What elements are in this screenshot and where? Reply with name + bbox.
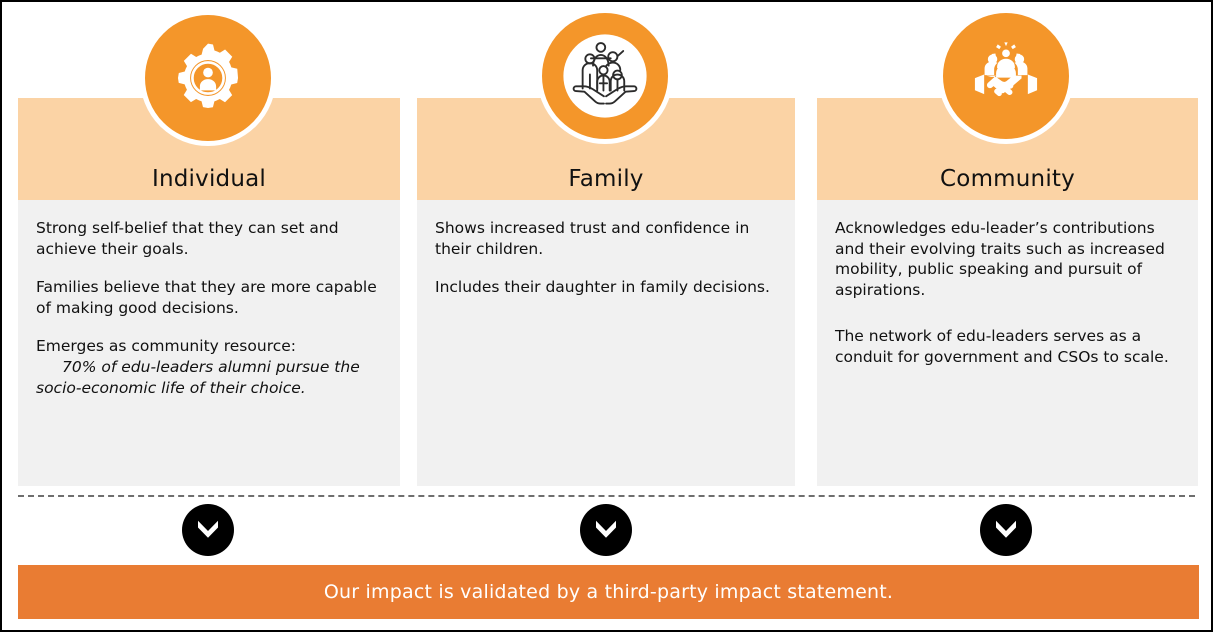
impact-banner: Our impact is validated by a third-party… [18,565,1199,619]
column-body-family: Shows increased trust and confidence in … [417,200,795,486]
marker-community [980,504,1032,556]
column-title-community: Community [817,166,1198,192]
paragraph-emphasis: 70% of edu-leaders alumni pursue the soc… [36,357,384,398]
impact-banner-text: Our impact is validated by a third-party… [324,581,893,603]
dashed-divider [18,495,1195,497]
column-title-individual: Individual [18,166,400,192]
column-body-community: Acknowledges edu-leader’s contributions … [817,200,1198,486]
gear-person-icon [169,39,247,117]
paragraph: Families believe that they are more capa… [36,277,384,318]
chevron-down-icon [591,513,621,547]
paragraph: Strong self-belief that they can set and… [36,218,384,259]
marker-family [580,504,632,556]
badge-individual [140,10,276,146]
paragraph: Acknowledges edu-leader’s contributions … [835,218,1182,300]
impact-slide: Individual Strong self-belief that they … [0,0,1213,632]
handshake-community-icon [964,34,1048,118]
column-body-individual: Strong self-belief that they can set and… [18,200,400,486]
column-individual: Individual Strong self-belief that they … [18,98,400,486]
paragraph: Shows increased trust and confidence in … [435,218,779,259]
badge-family [537,8,673,144]
marker-individual [182,504,234,556]
column-community: Community Acknowledges edu-leader’s cont… [817,98,1198,486]
paragraph: Includes their daughter in family decisi… [435,277,779,298]
chevron-down-icon [991,513,1021,547]
paragraph: Emerges as community resource: 70% of ed… [36,336,384,398]
column-title-family: Family [417,166,795,192]
family-in-hands-icon [553,24,657,128]
column-family: Family Shows increased trust and confide… [417,98,795,486]
badge-community [938,8,1074,144]
chevron-down-icon [193,513,223,547]
paragraph: The network of edu-leaders serves as a c… [835,326,1182,367]
paragraph-lead: Emerges as community resource: [36,337,296,355]
